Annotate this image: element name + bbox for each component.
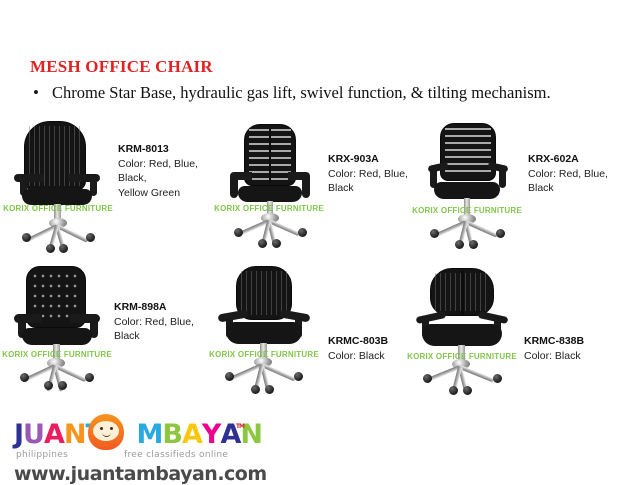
product-image: KORIX OFFICE FURNITURE — [404, 258, 520, 388]
logo-letter: A — [182, 420, 202, 450]
slide-canvas: MESH OFFICE CHAIR • Chrome Star Base, hy… — [0, 0, 640, 480]
logo-tagline: philippines free classifieds online — [14, 450, 244, 462]
product-colors-line2: Black, — [118, 171, 208, 185]
product-colors-line1: Color: Black — [524, 349, 620, 363]
product-colors-line3: Yellow Green — [118, 186, 208, 200]
product-card[interactable]: KORIX OFFICE FURNITURE KRMC-803B Color: … — [208, 258, 420, 388]
product-code: KRMC-838B — [524, 334, 620, 348]
product-card[interactable]: KORIX OFFICE FURNITURE KRX-903A Color: R… — [218, 120, 416, 244]
logo-letter: J — [14, 420, 23, 450]
product-card[interactable]: KORIX OFFICE FURNITURE KRMC-838B Color: … — [404, 258, 620, 388]
product-colors-line2: Black — [528, 181, 620, 195]
feature-bullet-text: Chrome Star Base, hydraulic gas lift, sw… — [52, 84, 551, 103]
logo-letter: N — [64, 420, 86, 450]
tagline-philippines: philippines — [16, 450, 68, 460]
product-code: KRX-602A — [528, 152, 620, 166]
bullet-marker-icon: • — [30, 84, 42, 103]
logo-letter: B — [162, 420, 182, 450]
product-image: KORIX OFFICE FURNITURE — [414, 120, 520, 244]
logo-letter: Y — [202, 420, 221, 450]
product-image: KORIX OFFICE FURNITURE — [218, 120, 320, 244]
product-grid: KORIX OFFICE FURNITURE KRM-8013 Color: R… — [0, 118, 640, 398]
product-code: KRM-8013 — [118, 142, 208, 156]
trademark-mark: TM — [236, 424, 244, 430]
site-url[interactable]: www.juantambayan.com — [14, 463, 244, 485]
logo-wordmark: JUANT MBAYAN TM — [14, 420, 244, 450]
slide-header: MESH OFFICE CHAIR • Chrome Star Base, hy… — [30, 58, 610, 103]
product-card[interactable]: KORIX OFFICE FURNITURE KRM-898A Color: R… — [4, 256, 206, 384]
product-caption: KRMC-838B Color: Black — [524, 334, 620, 363]
product-code: KRM-898A — [114, 300, 206, 314]
page-title: MESH OFFICE CHAIR — [30, 58, 610, 77]
product-image: KORIX OFFICE FURNITURE — [208, 258, 320, 388]
logo-letter: U — [23, 420, 44, 450]
product-caption: KRM-8013 Color: Red, Blue, Black, Yellow… — [118, 142, 208, 200]
feature-bullet: • Chrome Star Base, hydraulic gas lift, … — [30, 84, 610, 103]
product-caption: KRX-903A Color: Red, Blue, Black — [328, 152, 416, 196]
product-colors-line1: Color: Red, Blue, — [528, 167, 620, 181]
logo-letter: M — [137, 420, 163, 450]
product-code: KRX-903A — [328, 152, 416, 166]
product-colors-line2: Black — [114, 329, 206, 343]
product-colors-line2: Black — [328, 181, 416, 195]
tagline-classifieds: free classifieds online — [124, 450, 228, 460]
mascot-icon — [88, 414, 124, 450]
product-caption: KRM-898A Color: Red, Blue, Black — [114, 300, 206, 344]
product-image: KORIX OFFICE FURNITURE — [4, 256, 110, 384]
product-colors-line1: Color: Red, Blue, — [114, 315, 206, 329]
product-card[interactable]: KORIX OFFICE FURNITURE KRM-8013 Color: R… — [4, 118, 208, 244]
product-colors-line1: Color: Red, Blue, — [118, 157, 208, 171]
site-logo[interactable]: JUANT MBAYAN TM philippines free classif… — [14, 420, 244, 478]
product-colors-line1: Color: Red, Blue, — [328, 167, 416, 181]
product-card[interactable]: KORIX OFFICE FURNITURE KRX-602A Color: R… — [414, 120, 620, 244]
product-image: KORIX OFFICE FURNITURE — [4, 118, 112, 244]
logo-letter: A — [44, 420, 64, 450]
product-caption: KRX-602A Color: Red, Blue, Black — [528, 152, 620, 196]
